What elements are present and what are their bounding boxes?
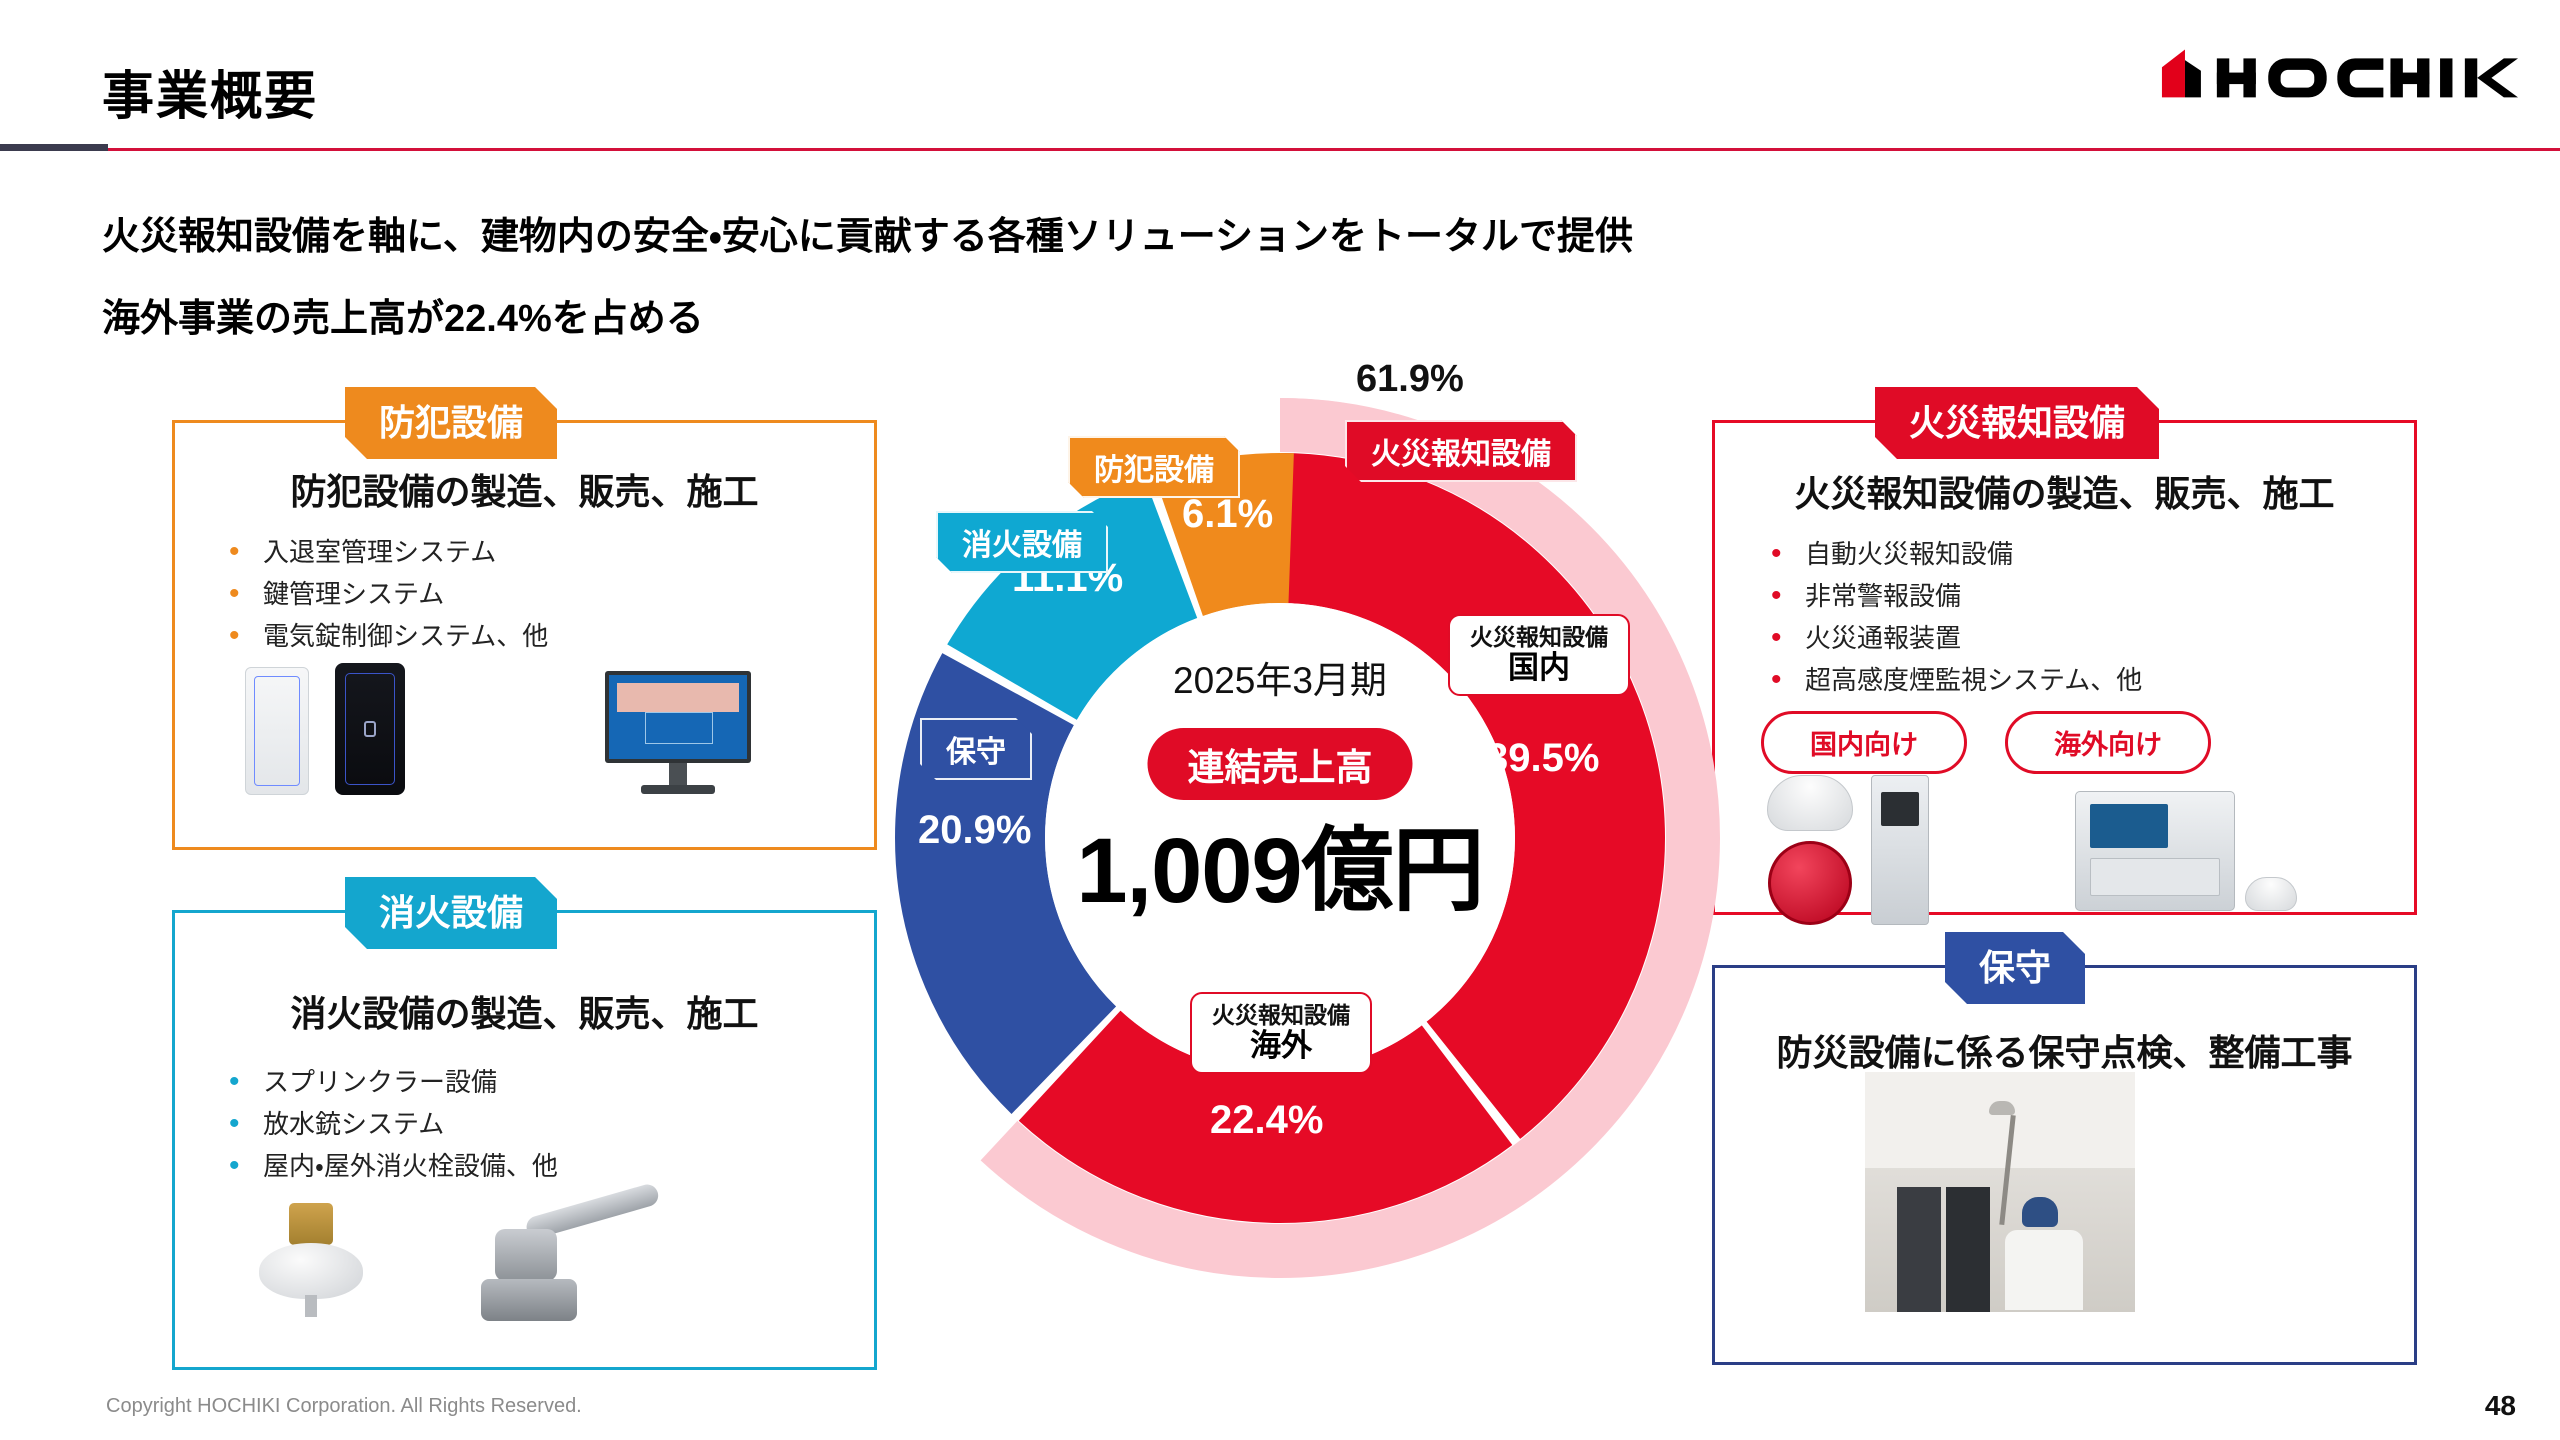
control-panel-image bbox=[2075, 791, 2235, 911]
card-tab-fire-alarm: 火災報知設備 bbox=[1875, 387, 2159, 459]
chart-center-value: 1,009億円 bbox=[880, 796, 1680, 929]
chart-center-period: 2025年3月期 bbox=[880, 650, 1680, 704]
pill-domestic: 国内向け bbox=[1761, 711, 1967, 774]
monitor-image-wrap bbox=[605, 671, 751, 794]
subtitle-line-2: 海外事業の売上高が22.4%を占める bbox=[102, 287, 704, 342]
card-heading-maintenance: 防災設備に係る保守点検、整備工事 bbox=[1715, 1024, 2414, 1076]
water-cannon-image bbox=[475, 1201, 665, 1327]
chart-center-pill: 連結売上高 bbox=[1148, 728, 1413, 800]
card-security-equipment: 防犯設備 防犯設備の製造、販売、施工 入退室管理システム 鍵管理システム 電気錠… bbox=[172, 420, 877, 850]
tag-maintenance: 保守 bbox=[920, 718, 1032, 780]
list-item: 鍵管理システム bbox=[217, 573, 548, 615]
list-item: 放水銃システム bbox=[217, 1103, 558, 1145]
list-item: 屋内・屋外消火栓設備、他 bbox=[217, 1145, 558, 1187]
water-cannon-image-wrap bbox=[475, 1201, 665, 1327]
sales-composition-donut-chart: 61.9% 39.5% 22.4% 20.9% 11.1% 6.1% 火災報知設… bbox=[880, 378, 1680, 1298]
tag-security: 防犯設備 bbox=[1068, 436, 1240, 498]
callout-overseas-line2: 海外 bbox=[1212, 1028, 1350, 1064]
callout-overseas: 火災報知設備 海外 bbox=[1190, 992, 1372, 1074]
pill-overseas: 海外向け bbox=[2005, 711, 2211, 774]
hochiki-logo bbox=[2146, 46, 2518, 108]
list-item: 自動火災報知設備 bbox=[1759, 533, 2142, 575]
copyright-text: Copyright HOCHIKI Corporation. All Right… bbox=[106, 1395, 582, 1418]
card-tab-security: 防犯設備 bbox=[345, 387, 557, 459]
wall-unit-image bbox=[1871, 775, 1929, 925]
pct-fire-total: 61.9% bbox=[1356, 358, 1464, 401]
product-images-security bbox=[245, 663, 405, 795]
callout-overseas-line1: 火災報知設備 bbox=[1212, 1002, 1350, 1028]
callout-domestic-line1: 火災報知設備 bbox=[1470, 624, 1608, 650]
slide-root: 事業概要 火災報知設備を軸に、建物内の安全・安心に貢献する各種ソリューションをト… bbox=[0, 0, 2560, 1440]
list-item: 電気錠制御システム、他 bbox=[217, 615, 548, 657]
page-number: 48 bbox=[2485, 1390, 2516, 1422]
pct-fire-overseas: 22.4% bbox=[1210, 1098, 1323, 1143]
bullet-list-fire-alarm: 自動火災報知設備 非常警報設備 火災通報装置 超高感度煙監視システム、他 bbox=[1759, 533, 2142, 701]
list-item: 超高感度煙監視システム、他 bbox=[1759, 659, 2142, 701]
keypad-reader-image bbox=[245, 667, 309, 795]
tag-extinguishing: 消火設備 bbox=[936, 511, 1108, 573]
sprinkler-image-wrap bbox=[255, 1203, 367, 1319]
smoke-detector-image bbox=[1767, 775, 1853, 831]
card-heading-extinguishing: 消火設備の製造、販売、施工 bbox=[175, 985, 874, 1037]
card-tab-extinguishing: 消火設備 bbox=[345, 877, 557, 949]
page-title: 事業概要 bbox=[102, 54, 318, 129]
product-images-fire-overseas bbox=[2075, 791, 2297, 911]
card-tab-maintenance: 保守 bbox=[1945, 932, 2085, 1004]
list-item: スプリンクラー設備 bbox=[217, 1061, 558, 1103]
pct-fire-domestic: 39.5% bbox=[1486, 736, 1599, 781]
monitor-image bbox=[605, 671, 751, 794]
alarm-bell-image bbox=[1768, 841, 1852, 925]
pct-security: 6.1% bbox=[1182, 492, 1273, 537]
subtitle-line-1: 火災報知設備を軸に、建物内の安全・安心に貢献する各種ソリューションをトータルで提… bbox=[102, 205, 1633, 260]
bullet-list-extinguishing: スプリンクラー設備 放水銃システム 屋内・屋外消火栓設備、他 bbox=[217, 1061, 558, 1187]
overseas-detector-image bbox=[2245, 877, 2297, 911]
maintenance-photo bbox=[1865, 1072, 2135, 1312]
tag-fire-alarm: 火災報知設備 bbox=[1345, 420, 1577, 482]
list-item: 入退室管理システム bbox=[217, 531, 548, 573]
product-images-fire-domestic bbox=[1767, 775, 1929, 925]
sprinkler-image bbox=[255, 1203, 367, 1319]
card-fire-alarm-equipment: 火災報知設備 火災報知設備の製造、販売、施工 自動火災報知設備 非常警報設備 火… bbox=[1712, 420, 2417, 915]
card-extinguishing-equipment: 消火設備 消火設備の製造、販売、施工 スプリンクラー設備 放水銃システム 屋内・… bbox=[172, 910, 877, 1370]
card-maintenance: 保守 防災設備に係る保守点検、整備工事 bbox=[1712, 965, 2417, 1365]
market-pill-row: 国内向け 海外向け bbox=[1761, 711, 2211, 774]
card-reader-image bbox=[335, 663, 405, 795]
list-item: 非常警報設備 bbox=[1759, 575, 2142, 617]
card-heading-fire-alarm: 火災報知設備の製造、販売、施工 bbox=[1715, 465, 2414, 517]
header-rule-accent bbox=[0, 144, 108, 151]
list-item: 火災通報装置 bbox=[1759, 617, 2142, 659]
bullet-list-security: 入退室管理システム 鍵管理システム 電気錠制御システム、他 bbox=[217, 531, 548, 657]
header-rule bbox=[0, 148, 2560, 151]
card-heading-security: 防犯設備の製造、販売、施工 bbox=[175, 463, 874, 515]
